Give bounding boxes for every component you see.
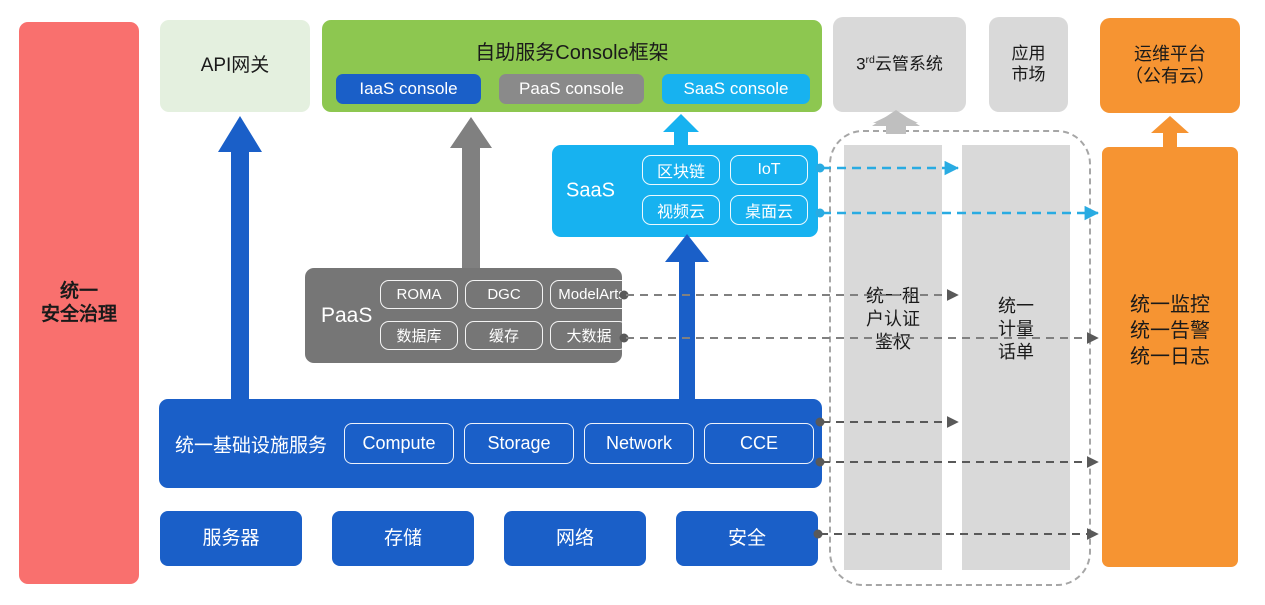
security-line-1: 统一 (41, 280, 117, 303)
ops-platform-box: 运维平台 （公有云） (1100, 18, 1240, 113)
architecture-diagram: 统一 安全治理 API网关 自助服务Console框架 IaaS console… (0, 0, 1265, 605)
iaas-console-label: IaaS console (359, 79, 457, 99)
saas-label: SaaS (566, 180, 615, 203)
third-party-prefix: 3 (856, 54, 865, 73)
ops-column-line-3: 统一日志 (1102, 344, 1238, 370)
hardware-storage-label: 存储 (384, 527, 422, 550)
hardware-storage-box: 存储 (332, 511, 474, 566)
unified-metering-billing-column: 统一 计量 话单 (962, 145, 1070, 570)
api-gateway-block: API网关 (160, 20, 310, 112)
unified-tenant-auth-column: 统一租 户认证 鉴权 (844, 145, 942, 570)
tenant-auth-line-1: 统一租 (844, 285, 942, 308)
paas-service-modelarts-label: ModelArts (558, 286, 626, 303)
paas-service-dgc-label: DGC (487, 286, 520, 303)
self-service-console-frame: 自助服务Console框架 IaaS console PaaS console … (322, 20, 822, 112)
tenant-auth-line-3: 鉴权 (844, 331, 942, 354)
paas-service-modelarts[interactable]: ModelArts (550, 280, 634, 309)
unified-tenant-auth-label: 统一租 户认证 鉴权 (844, 285, 942, 354)
saas-service-desktop-cloud-label: 桌面云 (745, 198, 793, 222)
hardware-security-label: 安全 (728, 527, 766, 550)
arrow-infra-to-saas (665, 234, 709, 399)
ops-monitoring-column: 统一监控 统一告警 统一日志 (1102, 147, 1238, 567)
ops-column-label: 统一监控 统一告警 统一日志 (1102, 292, 1238, 370)
saas-service-iot-label: IoT (757, 161, 780, 179)
saas-service-video-cloud[interactable]: 视频云 (642, 195, 720, 225)
saas-service-iot[interactable]: IoT (730, 155, 808, 185)
hardware-server-label: 服务器 (202, 527, 259, 550)
hardware-network-label: 网络 (556, 527, 594, 550)
app-market-line-2: 市场 (1012, 65, 1046, 86)
api-gateway-label: API网关 (201, 54, 270, 77)
paas-service-bigdata-label: 大数据 (566, 325, 611, 346)
third-party-cloud-mgmt-label: 3rd云管系统 (856, 54, 943, 75)
saas-service-blockchain[interactable]: 区块链 (642, 155, 720, 185)
hardware-server-box: 服务器 (160, 511, 302, 566)
arrow-saas-to-saas-console (663, 114, 699, 145)
saas-block: SaaS 区块链 IoT 视频云 桌面云 (552, 145, 818, 237)
infra-service-cce[interactable]: CCE (704, 423, 814, 464)
infra-service-compute[interactable]: Compute (344, 423, 454, 464)
infra-label: 统一基础设施服务 (175, 430, 327, 457)
metering-line-2: 计量 (962, 318, 1070, 341)
arrow-infra-to-api-gateway (218, 116, 262, 399)
hardware-network-box: 网络 (504, 511, 646, 566)
saas-console-label: SaaS console (684, 79, 789, 99)
saas-console-chip[interactable]: SaaS console (662, 74, 810, 104)
paas-console-label: PaaS console (519, 79, 624, 99)
arrow-paas-to-console (450, 117, 492, 268)
paas-service-cache[interactable]: 缓存 (465, 321, 543, 350)
paas-service-database-label: 数据库 (396, 325, 441, 346)
security-line-2: 安全治理 (41, 303, 117, 326)
ops-platform-line-2: （公有云） (1125, 66, 1215, 88)
tenant-auth-line-2: 户认证 (844, 308, 942, 331)
paas-block: PaaS ROMA DGC ModelArts 数据库 缓存 大数据 (305, 268, 622, 363)
unified-infrastructure-service-bar: 统一基础设施服务 Compute Storage Network CCE (159, 399, 822, 488)
unified-metering-billing-label: 统一 计量 话单 (962, 295, 1070, 364)
paas-service-roma-label: ROMA (397, 286, 442, 303)
paas-service-roma[interactable]: ROMA (380, 280, 458, 309)
metering-line-1: 统一 (962, 295, 1070, 318)
paas-service-cache-label: 缓存 (489, 325, 519, 346)
metering-line-3: 话单 (962, 341, 1070, 364)
hardware-security-box: 安全 (676, 511, 818, 566)
saas-service-video-cloud-label: 视频云 (657, 198, 705, 222)
app-market-box: 应用 市场 (989, 17, 1068, 112)
paas-console-chip[interactable]: PaaS console (499, 74, 644, 104)
ops-platform-line-1: 运维平台 (1125, 44, 1215, 66)
infra-service-network[interactable]: Network (584, 423, 694, 464)
ops-column-line-1: 统一监控 (1102, 292, 1238, 318)
saas-service-blockchain-label: 区块链 (657, 158, 705, 182)
infra-service-compute-label: Compute (362, 433, 435, 454)
paas-service-bigdata[interactable]: 大数据 (550, 321, 628, 350)
iaas-console-chip[interactable]: IaaS console (336, 74, 481, 104)
third-party-ordinal-suffix: rd (866, 54, 875, 66)
app-market-line-1: 应用 (1012, 44, 1046, 65)
infra-service-cce-label: CCE (740, 433, 778, 454)
saas-service-desktop-cloud[interactable]: 桌面云 (730, 195, 808, 225)
console-frame-title: 自助服务Console框架 (322, 36, 822, 65)
ops-column-line-2: 统一告警 (1102, 318, 1238, 344)
infra-service-storage[interactable]: Storage (464, 423, 574, 464)
third-party-rest: 云管系统 (875, 54, 943, 73)
arrow-ops-column-to-platform (1151, 116, 1189, 147)
unified-security-governance-block: 统一 安全治理 (19, 22, 139, 584)
paas-label: PaaS (321, 304, 372, 328)
infra-service-storage-label: Storage (487, 433, 550, 454)
third-party-cloud-mgmt-box: 3rd云管系统 (833, 17, 966, 112)
infra-service-network-label: Network (606, 433, 672, 454)
paas-service-dgc[interactable]: DGC (465, 280, 543, 309)
paas-service-database[interactable]: 数据库 (380, 321, 458, 350)
